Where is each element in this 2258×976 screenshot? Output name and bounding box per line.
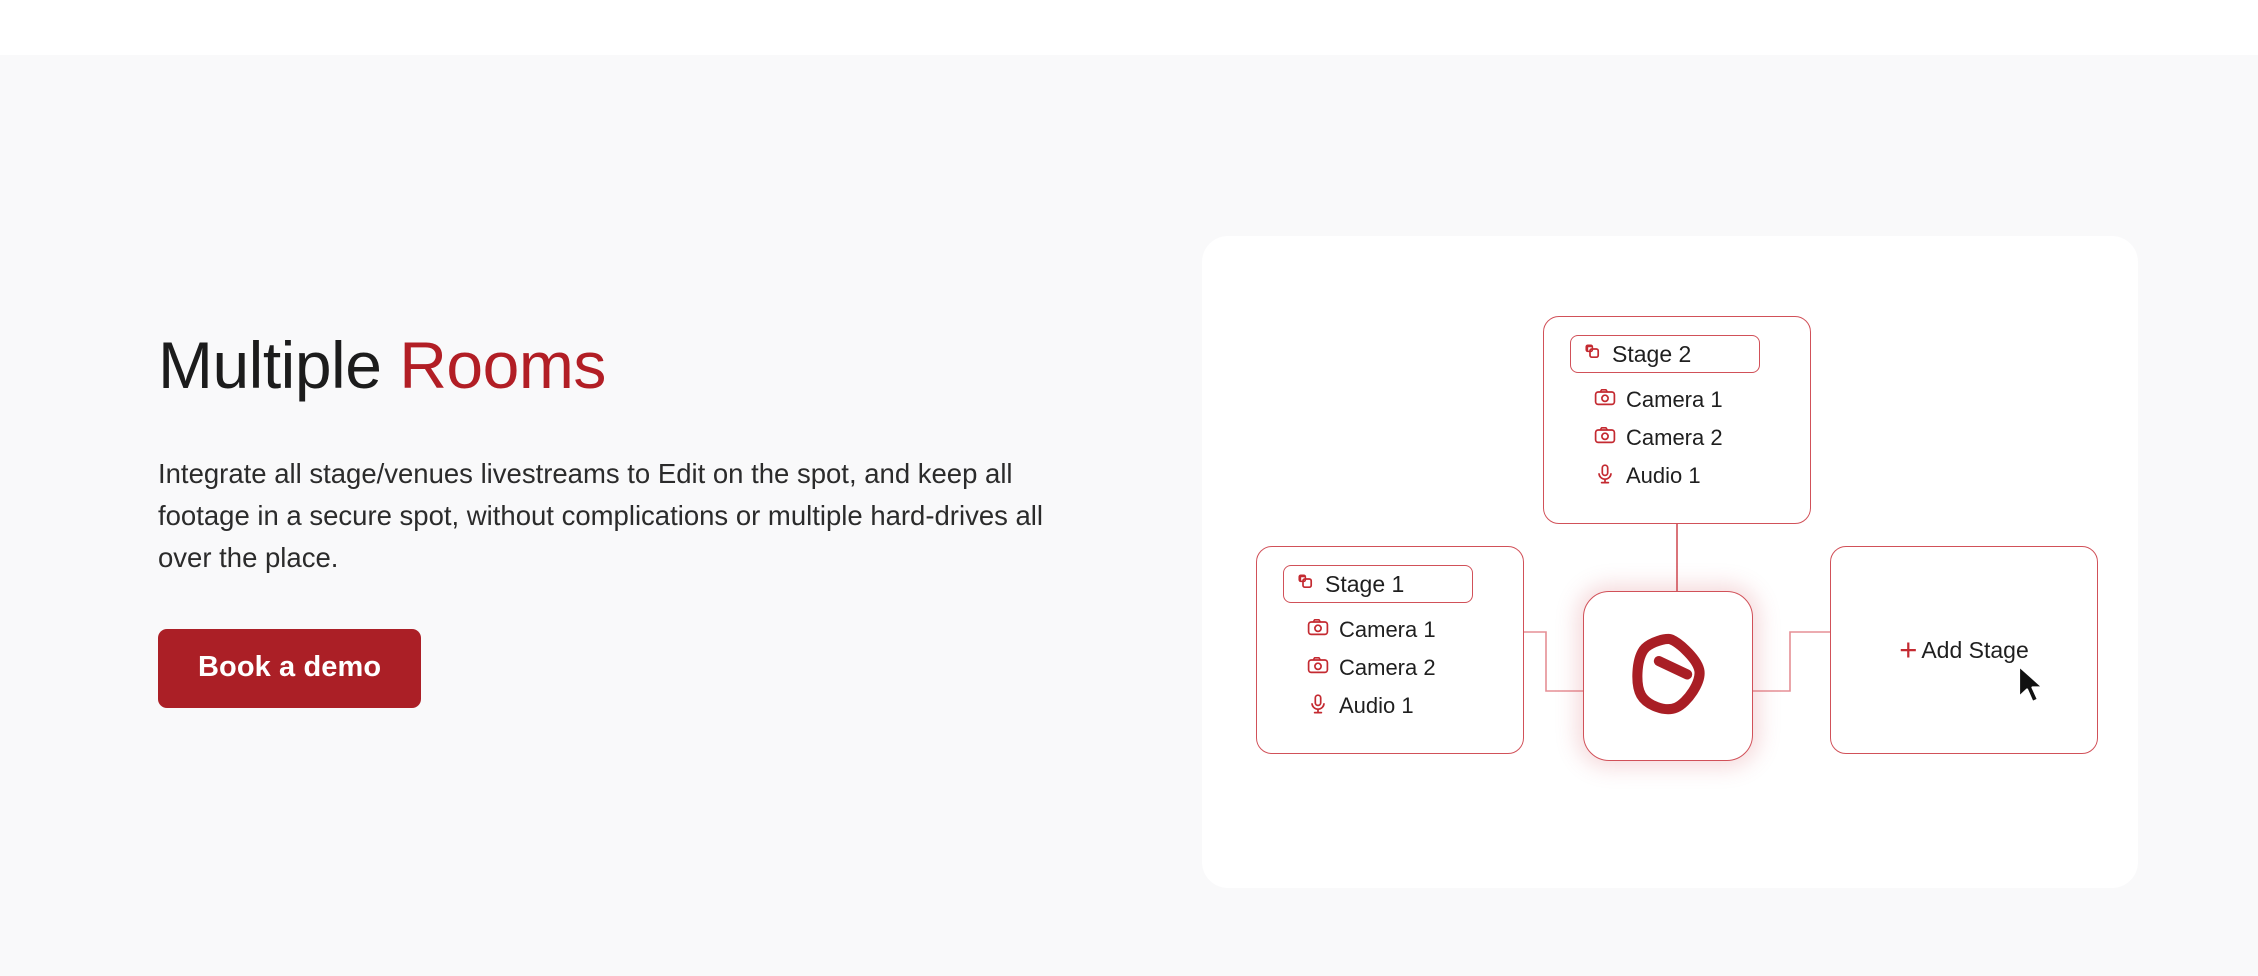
device-row[interactable]: Audio 1 [1307, 691, 1436, 721]
microphone-icon [1307, 693, 1329, 720]
camera-icon [1307, 618, 1329, 642]
stage-title-label: Stage 2 [1612, 343, 1691, 366]
device-row[interactable]: Audio 1 [1594, 461, 1723, 491]
microphone-icon [1594, 463, 1616, 490]
page-title-accent: Rooms [399, 328, 606, 402]
device-row[interactable]: Camera 2 [1594, 423, 1723, 453]
device-list: Camera 1 Camera 2 [1307, 615, 1436, 721]
device-label: Camera 2 [1339, 657, 1436, 679]
page-root: Multiple Rooms Integrate all stage/venue… [0, 0, 2258, 976]
device-row[interactable]: Camera 1 [1307, 615, 1436, 645]
camera-icon [1594, 426, 1616, 450]
stage-title-pill[interactable]: Stage 1 [1283, 565, 1473, 603]
device-label: Audio 1 [1626, 465, 1701, 487]
add-stage-label: Add Stage [1921, 639, 2028, 662]
hub-node[interactable] [1583, 591, 1753, 761]
page-title-plain: Multiple [158, 328, 399, 402]
device-label: Camera 1 [1339, 619, 1436, 641]
book-a-demo-button[interactable]: Book a demo [158, 629, 421, 708]
add-stage-content: + Add Stage [1831, 547, 2097, 753]
plus-icon: + [1899, 634, 1917, 665]
stage-card-stage-2[interactable]: Stage 2 Camera 1 [1543, 316, 1811, 524]
device-label: Camera 1 [1626, 389, 1723, 411]
device-row[interactable]: Camera 2 [1307, 653, 1436, 683]
camera-icon [1594, 388, 1616, 412]
device-label: Audio 1 [1339, 695, 1414, 717]
stage-title-label: Stage 1 [1325, 573, 1404, 596]
device-list: Camera 1 Camera 2 [1594, 385, 1723, 491]
diagram-canvas: Stage 2 Camera 1 [1202, 236, 2138, 888]
stage-card-stage-1[interactable]: Stage 1 Camera 1 [1256, 546, 1524, 754]
device-row[interactable]: Camera 1 [1594, 385, 1723, 415]
page-title: Multiple Rooms [158, 330, 1138, 401]
hero-description: Integrate all stage/venues livestreams t… [158, 453, 1088, 578]
add-stage-card[interactable]: + Add Stage [1830, 546, 2098, 754]
copy-icon [1583, 342, 1603, 367]
play-logo-icon [1620, 626, 1716, 727]
diagram-panel: Stage 2 Camera 1 [1202, 236, 2138, 888]
copy-icon [1296, 572, 1316, 597]
hero-text-column: Multiple Rooms Integrate all stage/venue… [158, 330, 1138, 708]
camera-icon [1307, 656, 1329, 680]
device-label: Camera 2 [1626, 427, 1723, 449]
stage-title-pill[interactable]: Stage 2 [1570, 335, 1760, 373]
